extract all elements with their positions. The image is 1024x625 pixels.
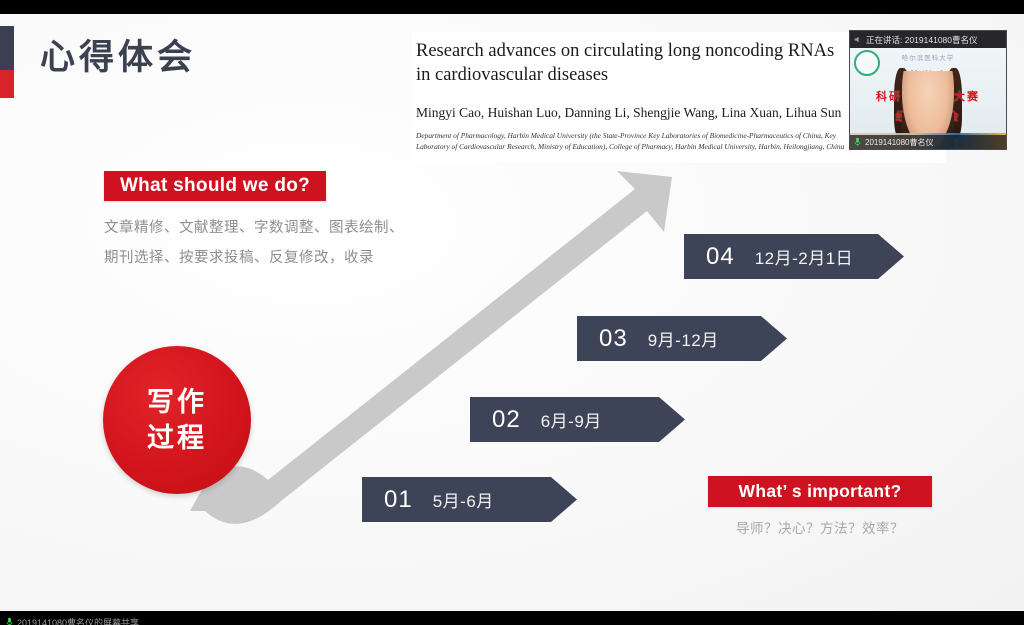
process-circle: 写作 过程 [103,346,251,494]
timeline-step-02: 02 6月-9月 [470,397,685,442]
bottom-share-label: 2019141080曹名仪的屏幕共享 [17,616,139,625]
paper-title: Research advances on circulating long no… [416,40,846,87]
participant-name: 2019141080曹名仪 [865,137,934,148]
participant-name-bar: 2019141080曹名仪 [850,135,1006,149]
timeline-step-04: 04 12月-2月1日 [684,234,904,279]
overlay-school: 哈尔滨医科大学 [850,52,1006,62]
speaker-icon [853,35,862,44]
microphone-icon [854,137,861,147]
title-accent-red-bar [0,70,14,98]
microphone-icon [6,617,13,625]
timeline-step-01: 01 5月-6月 [362,477,577,522]
step-label: 9月-12月 [648,326,719,351]
speaker-video-panel[interactable]: 正在讲话: 2019141080曹名仪 哈尔滨医科大学 药学院 科研论文答辩大赛… [849,30,1007,150]
speaker-video-header: 正在讲话: 2019141080曹名仪 [850,31,1006,48]
step-number: 01 [384,486,413,514]
step-label: 6月-9月 [541,407,602,432]
important-text: 导师？决心？方法？效率？ [736,518,904,540]
screen-share-view: 你正在共享屏幕 心得体会 Research advances on circul… [0,0,1024,625]
top-black-bar [0,0,1024,14]
todo-text: 文章精修、文献整理、字数调整、图表绘制、 期刊选择、按要求投稿、反复修改，收录 [104,214,404,273]
banner-whats-important: What’ s important? [708,476,932,507]
step-label: 12月-2月1日 [755,244,853,269]
step-number: 03 [599,325,628,353]
bottom-share-bar: 2019141080曹名仪的屏幕共享 [0,611,1024,625]
step-label: 5月-6月 [433,487,494,512]
circle-line-1: 写作 [147,384,207,420]
speaking-label: 正在讲话: 2019141080曹名仪 [866,34,978,46]
slide-title: 心得体会 [40,40,196,75]
banner-what-should-we-do: What should we do? [104,171,326,201]
speaker-video-feed: 哈尔滨医科大学 药学院 科研论文答辩大赛 经验分享会 2019141080曹名仪 [850,48,1006,149]
paper-affiliation: Department of Pharmacology, Harbin Medic… [416,131,846,153]
step-number: 04 [706,243,735,271]
timeline-step-03: 03 9月-12月 [577,316,787,361]
paper-authors: Mingyi Cao, Huishan Luo, Danning Li, She… [416,105,848,121]
circle-line-2: 过程 [147,420,207,456]
title-accent-navy-bar [0,26,14,70]
step-number: 02 [492,406,521,434]
